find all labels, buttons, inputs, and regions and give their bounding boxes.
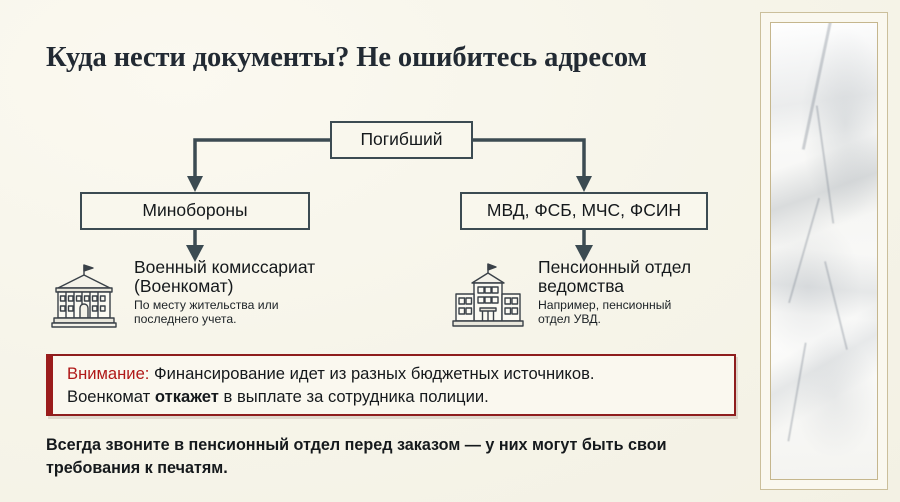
warning-line-2-after: в выплате за сотрудника полиции. [219, 387, 489, 406]
flow-node-root[interactable]: Погибший [330, 121, 473, 159]
government-building-icon [448, 262, 528, 337]
marble-vein-1 [801, 22, 832, 150]
warning-callout: Внимание: Финансирование идет из разных … [46, 354, 736, 416]
marble-vein-4 [824, 261, 848, 350]
flow-node-mvd-label: МВД, ФСБ, МЧС, ФСИН [487, 202, 681, 220]
warning-line-2-strong: откажет [155, 387, 219, 406]
marble-vein-2 [816, 106, 834, 224]
organization-pension-title: Пенсионный отдел ведомства [538, 258, 691, 296]
warning-line-2-before: Военкомат [67, 387, 155, 406]
flow-node-mvd-fsb-mchs-fsin[interactable]: МВД, ФСБ, МЧС, ФСИН [460, 192, 708, 230]
warning-callout-text: Внимание: Финансирование идет из разных … [53, 362, 595, 408]
footer-note: Всегда звоните в пенсионный отдел перед … [46, 434, 711, 479]
flow-node-minoborony-label: Минобороны [142, 202, 247, 220]
classical-building-icon [44, 262, 124, 337]
marble-texture [771, 23, 877, 479]
organization-voenkomat-subtitle: По месту жительства или последнего учета… [134, 298, 315, 326]
flow-node-root-label: Погибший [360, 131, 442, 149]
organization-pension-department: Пенсионный отдел ведомства Например, пен… [448, 258, 691, 337]
warning-label: Внимание: [67, 364, 149, 383]
marble-panel [760, 12, 888, 490]
marble-panel-frame [770, 22, 878, 480]
organization-pension-text: Пенсионный отдел ведомства Например, пен… [538, 258, 691, 326]
flowchart: Погибший Минобороны МВД, ФСБ, МЧС, ФСИН [0, 0, 760, 350]
marble-vein-3 [788, 198, 820, 304]
organization-pension-subtitle: Например, пенсионный отдел УВД. [538, 298, 691, 326]
infographic-canvas: Куда нести документы? Не ошибитесь адрес… [0, 0, 900, 502]
warning-line-2: Военкомат откажет в выплате за сотрудник… [67, 385, 595, 408]
warning-line-1: Внимание: Финансирование идет из разных … [67, 362, 595, 385]
flow-node-minoborony[interactable]: Минобороны [80, 192, 310, 230]
warning-line-1-rest: Финансирование идет из разных бюджетных … [149, 364, 594, 383]
organization-voenkomat-title: Военный комиссариат (Военкомат) [134, 258, 315, 296]
marble-vein-5 [788, 343, 807, 442]
organization-voenkomat-text: Военный комиссариат (Военкомат) По месту… [134, 258, 315, 326]
organization-voenkomat: Военный комиссариат (Военкомат) По месту… [44, 258, 315, 337]
